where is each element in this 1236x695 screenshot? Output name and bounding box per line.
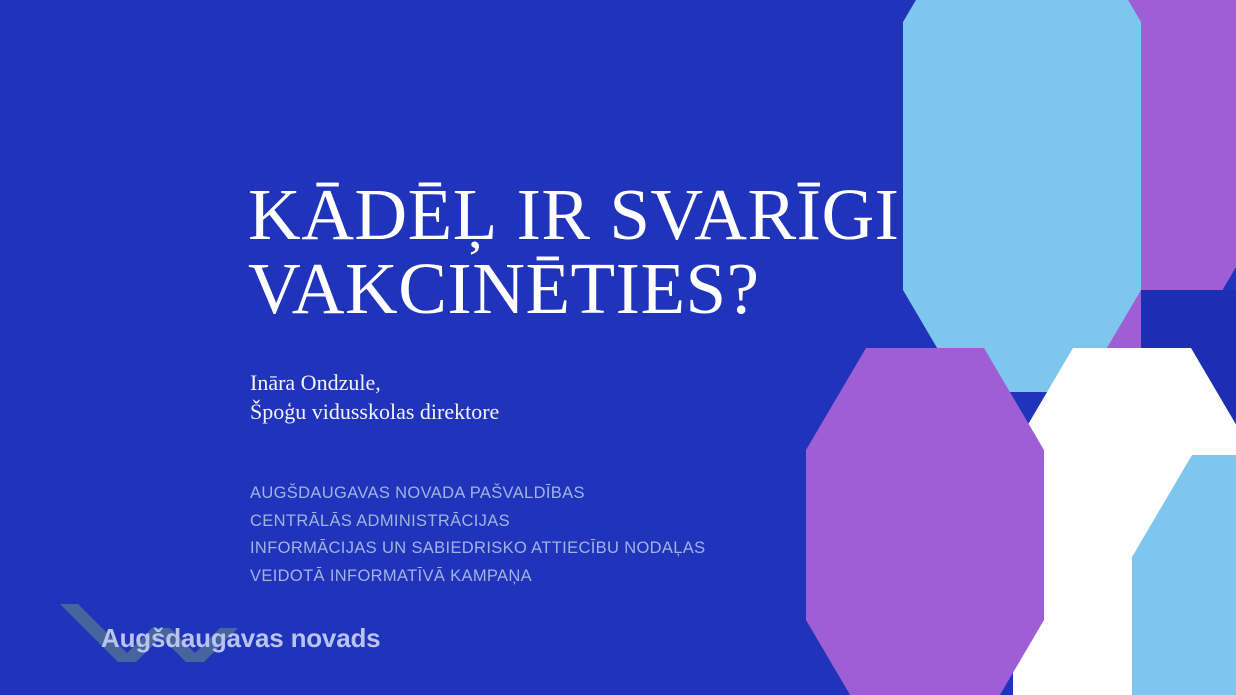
- logo-text: Augšdaugavas novads: [101, 623, 380, 654]
- title-block: KĀDĒĻ IR SVARĪGI VAKCINĒTIES?: [248, 178, 978, 327]
- presentation-slide: KĀDĒĻ IR SVARĪGI VAKCINĒTIES? Ināra Ondz…: [0, 0, 1236, 695]
- campaign-credit-caption: AUGŠDAUGAVAS NOVADA PAŠVALDĪBAS CENTRĀLĀ…: [250, 480, 706, 591]
- page-title: KĀDĒĻ IR SVARĪGI VAKCINĒTIES?: [248, 178, 978, 327]
- logo: Augšdaugavas novads: [58, 602, 388, 672]
- presenter-name: Ināra Ondzule, Špoģu vidusskolas direkto…: [250, 369, 499, 426]
